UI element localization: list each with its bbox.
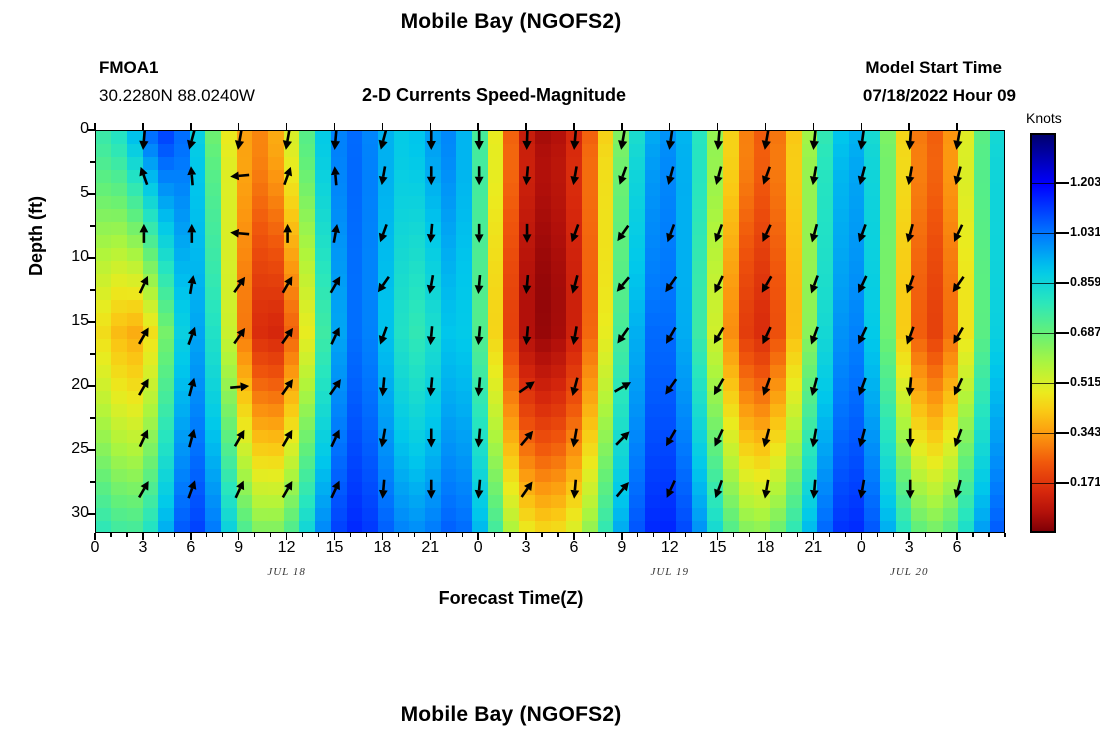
colorbar-band-separator — [1032, 333, 1054, 334]
current-arrow — [570, 429, 579, 448]
x-axis-minor-tick — [1004, 533, 1005, 537]
colorbar-tick-label: 1.20312 — [1070, 175, 1100, 189]
current-arrow — [236, 481, 244, 498]
x-axis-top-tick-mark — [956, 123, 958, 130]
current-arrow — [762, 131, 771, 150]
current-arrow — [906, 429, 915, 448]
chart-subtitle: 2-D Currents Speed-Magnitude — [362, 85, 626, 106]
y-axis-tick-mark — [88, 257, 95, 259]
x-axis-tick-mark — [94, 533, 96, 540]
current-arrow — [475, 166, 484, 185]
x-axis-minor-tick — [557, 533, 558, 537]
colorbar-tick-mark — [1056, 232, 1069, 233]
current-arrow — [379, 377, 388, 396]
current-arrow — [858, 224, 866, 242]
current-arrow — [282, 328, 293, 344]
x-axis-minor-tick — [494, 533, 495, 537]
colorbar-tick-mark — [1056, 182, 1069, 183]
current-arrow — [331, 327, 339, 344]
current-arrow — [330, 379, 341, 395]
colorbar-tick-label: 0.34375 — [1070, 425, 1100, 439]
x-axis-minor-tick — [302, 533, 303, 537]
x-axis-minor-tick — [605, 533, 606, 537]
current-arrow — [858, 480, 867, 499]
x-axis-minor-tick — [845, 533, 846, 537]
current-arrow — [284, 167, 292, 185]
current-arrow — [666, 430, 676, 446]
x-axis-top-tick-mark — [430, 123, 432, 130]
colorbar-band-separator — [1032, 283, 1054, 284]
x-axis-minor-tick — [925, 533, 926, 537]
x-axis-tick-mark — [525, 533, 527, 540]
current-arrow — [714, 327, 724, 343]
x-axis-minor-tick — [414, 533, 415, 537]
current-arrow — [522, 131, 531, 150]
x-axis-tick-label: 0 — [458, 540, 498, 556]
x-axis-tick-label: 6 — [937, 540, 977, 556]
current-arrow — [762, 480, 771, 499]
model-start-time-value: 07/18/2022 Hour 09 — [863, 86, 1016, 106]
x-axis-tick-mark — [573, 533, 575, 540]
current-arrow — [762, 429, 771, 447]
x-axis-top-tick-mark — [765, 123, 767, 130]
current-arrow — [906, 480, 915, 499]
current-arrow — [523, 224, 532, 243]
current-arrow — [331, 131, 340, 150]
current-arrow — [570, 131, 579, 150]
colorbar-tick-mark — [1056, 282, 1069, 283]
x-axis-minor-tick — [685, 533, 686, 537]
current-arrow — [475, 275, 484, 294]
model-start-time-label: Model Start Time — [865, 58, 1002, 78]
x-axis-minor-tick — [110, 533, 111, 537]
x-axis-tick-mark — [717, 533, 719, 540]
current-arrow — [570, 378, 579, 396]
station-id-label: FMOA1 — [99, 58, 159, 78]
x-axis-tick-label: 15 — [698, 540, 738, 556]
current-arrow — [475, 326, 484, 345]
current-arrow — [858, 327, 866, 344]
current-arrow — [139, 131, 148, 150]
x-axis-top-tick-mark — [142, 123, 144, 130]
x-axis-top-tick-mark — [717, 123, 719, 130]
x-axis-minor-tick — [893, 533, 894, 537]
current-arrow — [283, 224, 292, 243]
current-arrow — [188, 480, 196, 498]
x-axis-tick-mark — [382, 533, 384, 540]
current-arrow — [954, 378, 962, 395]
current-arrow — [230, 382, 249, 391]
current-arrow — [475, 377, 484, 396]
x-axis-minor-tick — [158, 533, 159, 537]
x-axis-tick-mark — [334, 533, 336, 540]
x-axis-tick-mark — [621, 533, 623, 540]
current-arrow — [570, 166, 579, 185]
current-arrow — [666, 327, 676, 343]
x-axis-minor-tick — [446, 533, 447, 537]
x-axis-top-tick-mark — [94, 123, 96, 130]
current-arrow — [714, 224, 722, 242]
x-axis-minor-tick — [877, 533, 878, 537]
current-arrow — [188, 378, 197, 396]
x-axis-top-tick-mark — [334, 123, 336, 130]
current-arrow — [523, 275, 532, 294]
current-arrow — [714, 480, 722, 498]
x-axis-tick-label: 9 — [602, 540, 642, 556]
current-arrow — [427, 166, 436, 185]
x-axis-minor-tick — [653, 533, 654, 537]
y-axis-minor-tick — [90, 289, 95, 291]
x-axis-minor-tick — [941, 533, 942, 537]
x-axis-tick-label: 18 — [362, 540, 402, 556]
current-arrow — [762, 378, 770, 396]
current-arrow — [570, 224, 578, 242]
current-arrow — [714, 276, 722, 293]
x-axis-tick-mark — [813, 533, 815, 540]
x-axis-top-tick-mark — [477, 123, 479, 130]
y-axis-minor-tick — [90, 417, 95, 419]
colorbar-tick-mark — [1056, 482, 1069, 483]
colorbar-band-separator — [1032, 383, 1054, 384]
current-arrow — [282, 379, 293, 395]
x-axis-tick-mark — [477, 533, 479, 540]
current-arrow — [906, 327, 914, 345]
current-arrow — [665, 277, 676, 293]
x-axis-tick-label: 3 — [506, 540, 546, 556]
current-arrow — [618, 131, 627, 150]
secondary-page-title: Mobile Bay (NGOFS2) — [0, 703, 1022, 727]
current-arrow — [714, 429, 722, 446]
current-arrow — [427, 224, 436, 243]
chart-page: Mobile Bay (NGOFS2) FMOA1 30.2280N 88.02… — [0, 0, 1100, 750]
current-arrow — [521, 431, 533, 446]
current-arrow — [475, 224, 484, 243]
current-arrow — [905, 131, 914, 150]
x-axis-minor-tick — [829, 533, 830, 537]
x-axis-tick-mark — [861, 533, 863, 540]
current-arrow — [331, 166, 340, 185]
x-axis-top-tick-mark — [669, 123, 671, 130]
current-arrow — [810, 166, 819, 185]
x-axis-minor-tick — [541, 533, 542, 537]
colorbar-band-separator — [1032, 233, 1054, 234]
x-axis-minor-tick — [749, 533, 750, 537]
colorbar-tick-label: 0.51562 — [1070, 375, 1100, 389]
current-arrow — [139, 224, 148, 243]
current-arrow — [618, 167, 626, 185]
current-arrow — [666, 131, 675, 150]
x-axis-tick-mark — [286, 533, 288, 540]
x-axis-minor-tick — [126, 533, 127, 537]
current-direction-arrows — [96, 131, 1005, 533]
current-arrow — [379, 224, 387, 242]
current-arrow — [906, 224, 915, 242]
current-arrow — [858, 131, 867, 150]
colorbar-tick-label: 1.03125 — [1070, 225, 1100, 239]
x-axis-top-tick-mark — [813, 123, 815, 130]
x-axis-tick-mark — [956, 533, 958, 540]
colorbar-tick-mark — [1056, 432, 1069, 433]
current-arrow — [522, 481, 533, 497]
current-arrow — [954, 480, 963, 498]
x-axis-minor-tick — [733, 533, 734, 537]
current-arrow — [762, 327, 770, 344]
current-arrow — [230, 171, 249, 180]
current-arrow — [858, 429, 867, 447]
y-axis-tick-label: 20 — [29, 377, 89, 393]
x-axis-top-tick-mark — [238, 123, 240, 130]
current-arrow — [953, 327, 963, 343]
x-axis-minor-tick — [589, 533, 590, 537]
x-axis-tick-label: 3 — [123, 540, 163, 556]
current-arrow — [283, 131, 292, 150]
x-axis-minor-tick — [988, 533, 989, 537]
x-axis-date-label: JUL 20 — [869, 566, 949, 578]
current-arrow — [954, 167, 963, 185]
current-arrow — [906, 377, 915, 396]
colorbar-band-separator — [1032, 483, 1054, 484]
current-arrow — [234, 277, 245, 293]
x-axis-tick-mark — [669, 533, 671, 540]
current-arrow — [906, 166, 915, 185]
current-arrow — [953, 277, 964, 293]
current-arrow — [666, 167, 675, 185]
x-axis-minor-tick — [701, 533, 702, 537]
x-axis-tick-label: 6 — [554, 540, 594, 556]
x-axis-top-tick-mark — [573, 123, 575, 130]
current-arrow — [283, 481, 293, 497]
current-arrow — [379, 131, 388, 150]
current-arrow — [230, 229, 249, 238]
colorbar-band-separator — [1032, 183, 1054, 184]
x-axis-minor-tick — [206, 533, 207, 537]
x-axis-tick-mark — [765, 533, 767, 540]
x-axis-minor-tick — [637, 533, 638, 537]
x-axis-date-label: JUL 19 — [630, 566, 710, 578]
current-arrow — [714, 131, 723, 150]
current-arrow — [906, 276, 914, 294]
page-title: Mobile Bay (NGOFS2) — [0, 10, 1022, 34]
current-arrow — [187, 131, 196, 150]
plot-area — [95, 130, 1005, 533]
x-axis-top-tick-mark — [621, 123, 623, 130]
current-arrow — [139, 481, 149, 497]
current-arrow — [188, 327, 196, 345]
colorbar-tick-label: 0.17187 — [1070, 475, 1100, 489]
current-arrow — [379, 480, 388, 499]
y-axis-title: Depth (ft) — [26, 196, 47, 276]
current-arrow — [188, 429, 197, 447]
current-arrow — [810, 224, 819, 242]
current-arrow — [519, 381, 535, 392]
current-arrow — [427, 131, 436, 150]
current-arrow — [762, 167, 770, 185]
y-axis-tick-mark — [88, 449, 95, 451]
colorbar-title: Knots — [1026, 110, 1062, 126]
current-arrow — [379, 166, 388, 185]
current-arrow — [954, 225, 962, 242]
current-arrow — [427, 275, 436, 294]
y-axis-tick-mark — [88, 513, 95, 515]
current-arrow — [810, 378, 819, 396]
current-arrow — [331, 224, 340, 243]
x-axis-tick-label: 6 — [171, 540, 211, 556]
x-axis-tick-label: 12 — [267, 540, 307, 556]
current-arrow — [188, 275, 197, 294]
current-arrow — [617, 226, 628, 242]
current-arrow — [427, 377, 436, 396]
colorbar-tick-mark — [1056, 382, 1069, 383]
current-arrow — [858, 167, 867, 185]
current-arrow — [810, 327, 818, 345]
x-axis-minor-tick — [398, 533, 399, 537]
current-arrow — [139, 379, 149, 395]
current-arrow — [283, 430, 293, 446]
x-axis-minor-tick — [270, 533, 271, 537]
x-axis-tick-mark — [142, 533, 144, 540]
x-axis-tick-label: 3 — [889, 540, 929, 556]
x-axis-tick-label: 0 — [841, 540, 881, 556]
current-arrow — [617, 328, 628, 344]
x-axis-minor-tick — [366, 533, 367, 537]
x-axis-tick-mark — [430, 533, 432, 540]
x-axis-minor-tick — [254, 533, 255, 537]
current-arrow — [617, 277, 629, 292]
x-axis-minor-tick — [318, 533, 319, 537]
current-arrow — [523, 326, 532, 345]
current-arrow — [140, 276, 148, 293]
current-arrow — [523, 166, 532, 185]
current-arrow — [187, 224, 196, 243]
x-axis-top-tick-mark — [525, 123, 527, 130]
x-axis-tick-label: 15 — [314, 540, 354, 556]
current-arrow — [762, 225, 770, 242]
y-axis-minor-tick — [90, 353, 95, 355]
current-arrow — [570, 275, 579, 293]
current-arrow — [427, 429, 436, 448]
x-axis-minor-tick — [222, 533, 223, 537]
y-axis-tick-label: 25 — [29, 441, 89, 457]
x-axis-top-tick-mark — [382, 123, 384, 130]
current-arrow — [665, 379, 676, 395]
current-arrow — [235, 430, 245, 446]
x-axis-minor-tick — [972, 533, 973, 537]
x-axis-tick-label: 0 — [75, 540, 115, 556]
x-axis-tick-label: 21 — [410, 540, 450, 556]
current-arrow — [331, 481, 339, 498]
current-arrow — [378, 277, 389, 293]
current-arrow — [475, 429, 484, 448]
current-arrow — [235, 131, 244, 150]
y-axis-tick-mark — [88, 385, 95, 387]
current-arrow — [379, 429, 388, 448]
x-axis-tick-label: 21 — [793, 540, 833, 556]
current-arrow — [139, 167, 147, 185]
current-arrow — [666, 224, 674, 242]
current-arrow — [187, 166, 196, 185]
y-axis-tick-label: 15 — [29, 313, 89, 329]
current-arrow — [475, 480, 484, 499]
current-arrow — [570, 326, 579, 345]
current-arrow — [714, 379, 724, 395]
x-axis-date-label: JUL 18 — [247, 566, 327, 578]
y-axis-tick-label: 30 — [29, 505, 89, 521]
station-coordinates-label: 30.2280N 88.0240W — [99, 86, 255, 106]
x-axis-minor-tick — [174, 533, 175, 537]
current-arrow — [427, 480, 436, 499]
current-arrow — [953, 131, 962, 150]
x-axis-tick-mark — [190, 533, 192, 540]
current-arrow — [379, 327, 387, 345]
current-arrow — [762, 276, 772, 292]
x-axis-tick-label: 9 — [219, 540, 259, 556]
x-axis-tick-label: 18 — [746, 540, 786, 556]
current-arrow — [140, 429, 148, 446]
current-arrow — [570, 480, 579, 499]
x-axis-tick-mark — [238, 533, 240, 540]
current-arrow — [810, 131, 819, 150]
x-axis-minor-tick — [797, 533, 798, 537]
current-arrow — [331, 429, 339, 446]
current-arrow — [810, 480, 819, 499]
current-arrow — [714, 167, 723, 185]
y-axis-minor-tick — [90, 161, 95, 163]
current-arrow — [234, 328, 245, 344]
current-arrow — [139, 327, 149, 343]
x-axis-minor-tick — [350, 533, 351, 537]
current-arrow — [331, 276, 341, 292]
colorbar-tick-mark — [1056, 332, 1069, 333]
y-axis-minor-tick — [90, 225, 95, 227]
colorbar-band-separator — [1032, 433, 1054, 434]
x-axis-minor-tick — [781, 533, 782, 537]
current-arrow — [954, 429, 962, 447]
current-arrow — [283, 276, 293, 292]
current-arrow — [617, 482, 629, 497]
colorbar-tick-label: 0.85937 — [1070, 275, 1100, 289]
current-arrow — [810, 276, 818, 294]
x-axis-top-tick-mark — [861, 123, 863, 130]
current-arrow — [858, 378, 866, 396]
y-axis-tick-mark — [88, 193, 95, 195]
current-arrow — [616, 431, 629, 444]
x-axis-top-tick-mark — [908, 123, 910, 130]
y-axis-minor-tick — [90, 481, 95, 483]
y-axis-tick-mark — [88, 321, 95, 323]
current-arrow — [474, 131, 483, 150]
x-axis-minor-tick — [462, 533, 463, 537]
current-arrow — [858, 276, 866, 293]
current-arrow — [666, 481, 674, 498]
x-axis-title: Forecast Time(Z) — [0, 588, 1022, 609]
x-axis-tick-mark — [908, 533, 910, 540]
y-axis-tick-label: 0 — [29, 121, 89, 137]
colorbar-tick-label: 0.68750 — [1070, 325, 1100, 339]
current-arrow — [427, 326, 436, 345]
current-arrow — [810, 429, 819, 448]
x-axis-minor-tick — [509, 533, 510, 537]
current-arrow — [615, 382, 631, 392]
plot-frame — [95, 130, 1005, 533]
x-axis-tick-label: 12 — [650, 540, 690, 556]
x-axis-top-tick-mark — [190, 123, 192, 130]
x-axis-top-tick-mark — [286, 123, 288, 130]
